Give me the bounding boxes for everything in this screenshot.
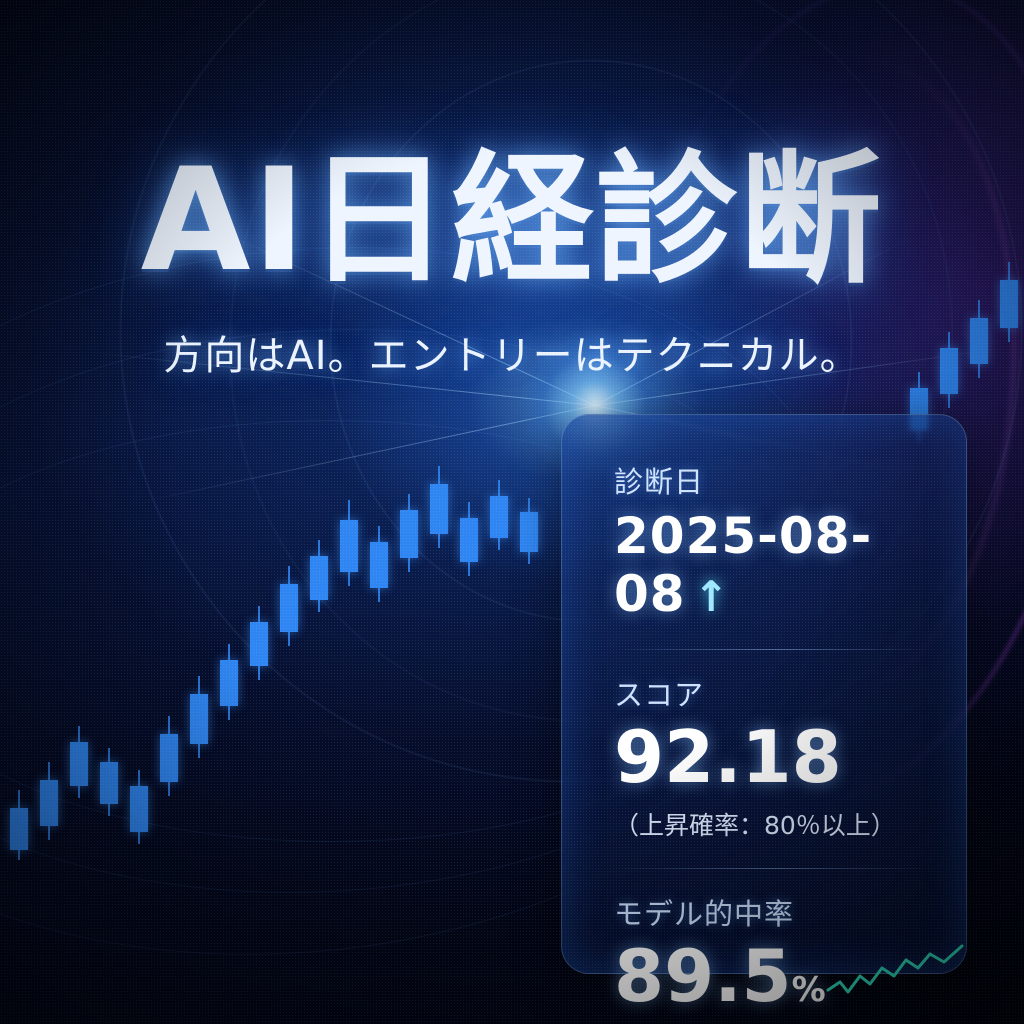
diagnosis-date-value-row: 2025-08-08↑ [614, 507, 932, 623]
accuracy-label: モデル的中率 [614, 891, 932, 933]
score-label: スコア [614, 672, 932, 714]
poster-canvas: AI日経診断 方向はAI。エントリーはテクニカル。 診断日 2025-08-08… [0, 0, 1024, 1024]
card-divider [614, 649, 932, 650]
trend-up-arrow-icon: ↑ [694, 572, 730, 621]
diagnosis-card: 診断日 2025-08-08↑ スコア 92.18 （上昇確率：80％以上） モ… [561, 414, 967, 974]
sparkline-chart [826, 942, 966, 1004]
card-divider [614, 868, 932, 869]
page-subtitle: 方向はAI。エントリーはテクニカル。 [0, 336, 1024, 376]
diagnosis-date-value: 2025-08-08 [614, 507, 872, 623]
accuracy-value-row: 89.5% [614, 939, 826, 1015]
score-note: （上昇確率：80％以上） [614, 806, 932, 842]
accuracy-block: モデル的中率 89.5% [614, 891, 932, 1015]
accuracy-value: 89.5 [614, 934, 792, 1018]
score-block: スコア 92.18 （上昇確率：80％以上） [614, 672, 932, 842]
diagnosis-date-block: 診断日 2025-08-08↑ [614, 459, 932, 623]
diagnosis-date-label: 診断日 [614, 459, 932, 501]
score-value: 92.18 [614, 720, 932, 796]
page-title: AI日経診断 [0, 150, 1024, 292]
accuracy-unit: % [792, 970, 826, 1010]
